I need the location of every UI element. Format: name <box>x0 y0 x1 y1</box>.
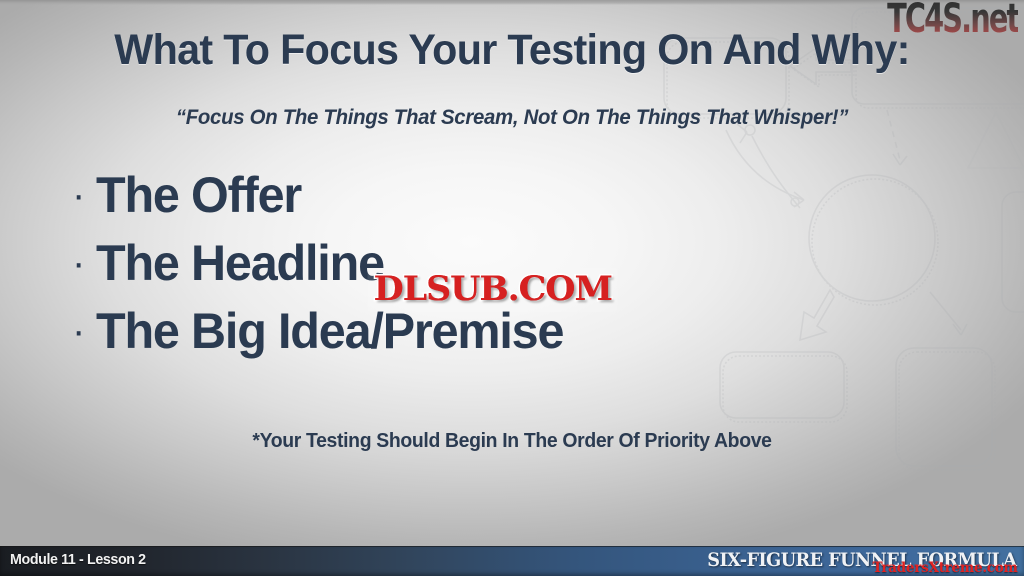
footer-bar: Module 11 - Lesson 2 SIX-FIGURE FUNNEL F… <box>0 546 1024 576</box>
slide-canvas: What To Focus Your Testing On And Why: “… <box>0 0 1024 576</box>
list-item-label: The Headline <box>96 238 384 288</box>
slide-footnote: *Your Testing Should Begin In The Order … <box>15 430 1008 453</box>
watermark-tradersxtreme: TradersXtreme.com <box>873 560 1018 576</box>
slide-subtitle-quote: “Focus On The Things That Scream, Not On… <box>15 106 1008 130</box>
footer-module-lesson-label: Module 11 - Lesson 2 <box>10 551 146 568</box>
watermark-dlsub: DLSUB.COM <box>368 268 618 312</box>
bullet-dot-icon: · <box>72 243 96 283</box>
list-item-label: The Offer <box>96 170 301 220</box>
list-item: · The Offer <box>72 170 832 238</box>
bullet-dot-icon: · <box>72 175 96 215</box>
bullet-dot-icon: · <box>72 311 96 351</box>
top-edge-divider <box>0 0 1024 5</box>
page-title: What To Focus Your Testing On And Why: <box>20 26 1003 75</box>
list-item-label: The Big Idea/Premise <box>96 306 563 356</box>
list-item: · The Big Idea/Premise <box>72 306 832 374</box>
watermark-tc4s: TC4S.net <box>887 0 1018 42</box>
